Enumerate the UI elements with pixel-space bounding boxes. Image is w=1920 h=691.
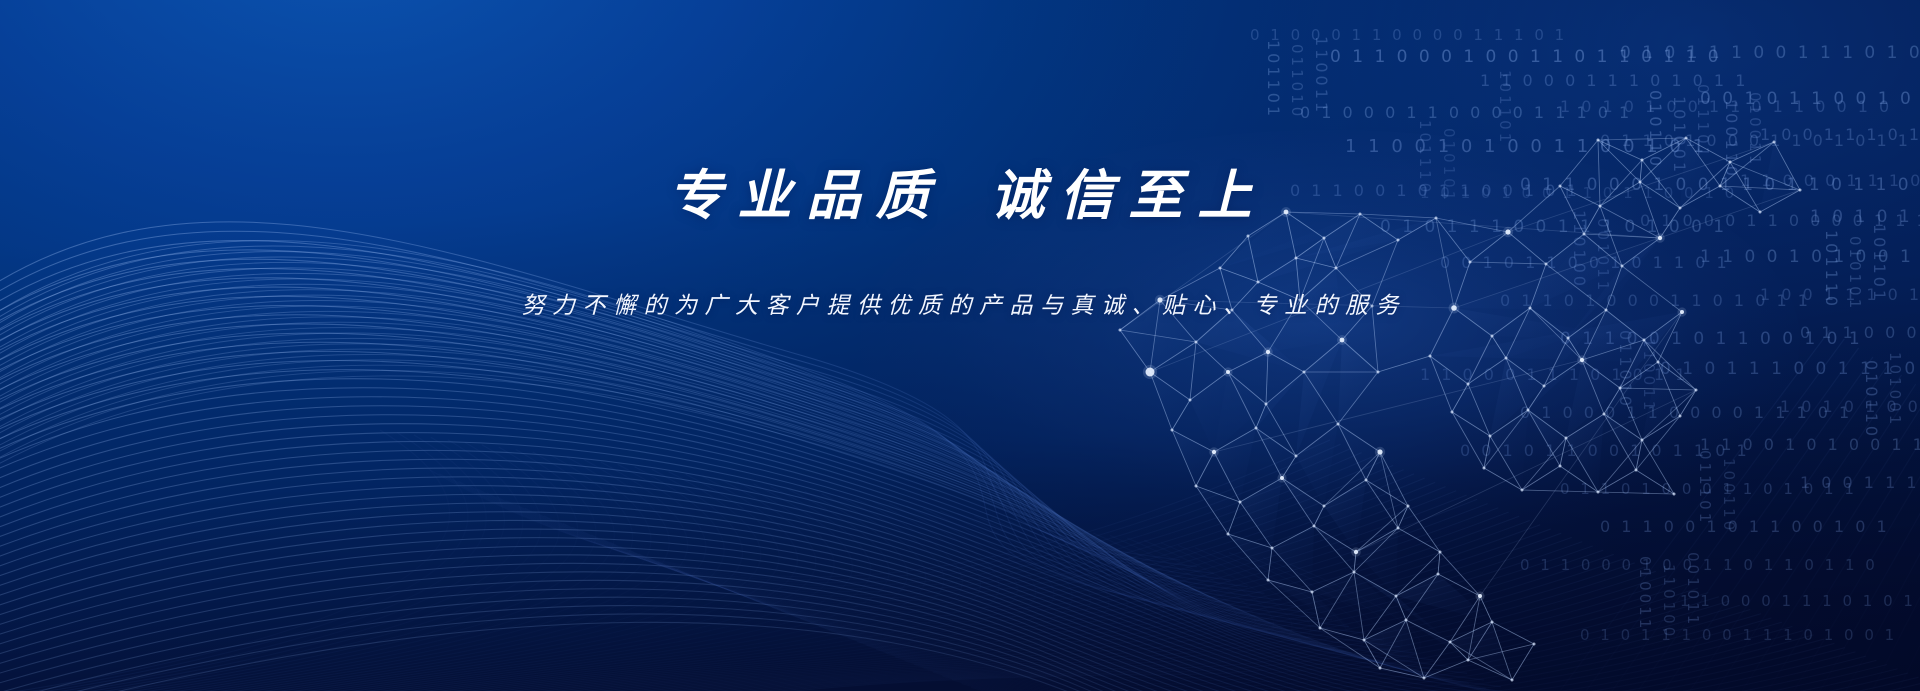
background-shadow-bottom-right — [0, 0, 1920, 691]
headline-part-1: 专业品质 — [669, 163, 945, 227]
page-title: 专业品质诚信至上 — [0, 166, 1920, 224]
headline-part-2: 诚信至上 — [991, 163, 1267, 227]
page-subtitle: 努力不懈的为广大客户提供优质的产品与真诚、贴心、专业的服务 — [0, 286, 1920, 320]
hero-banner: 0 1 1 0 0 0 1 0 0 1 1 0 1 1 0 1 1 01 1 0… — [0, 0, 1920, 691]
